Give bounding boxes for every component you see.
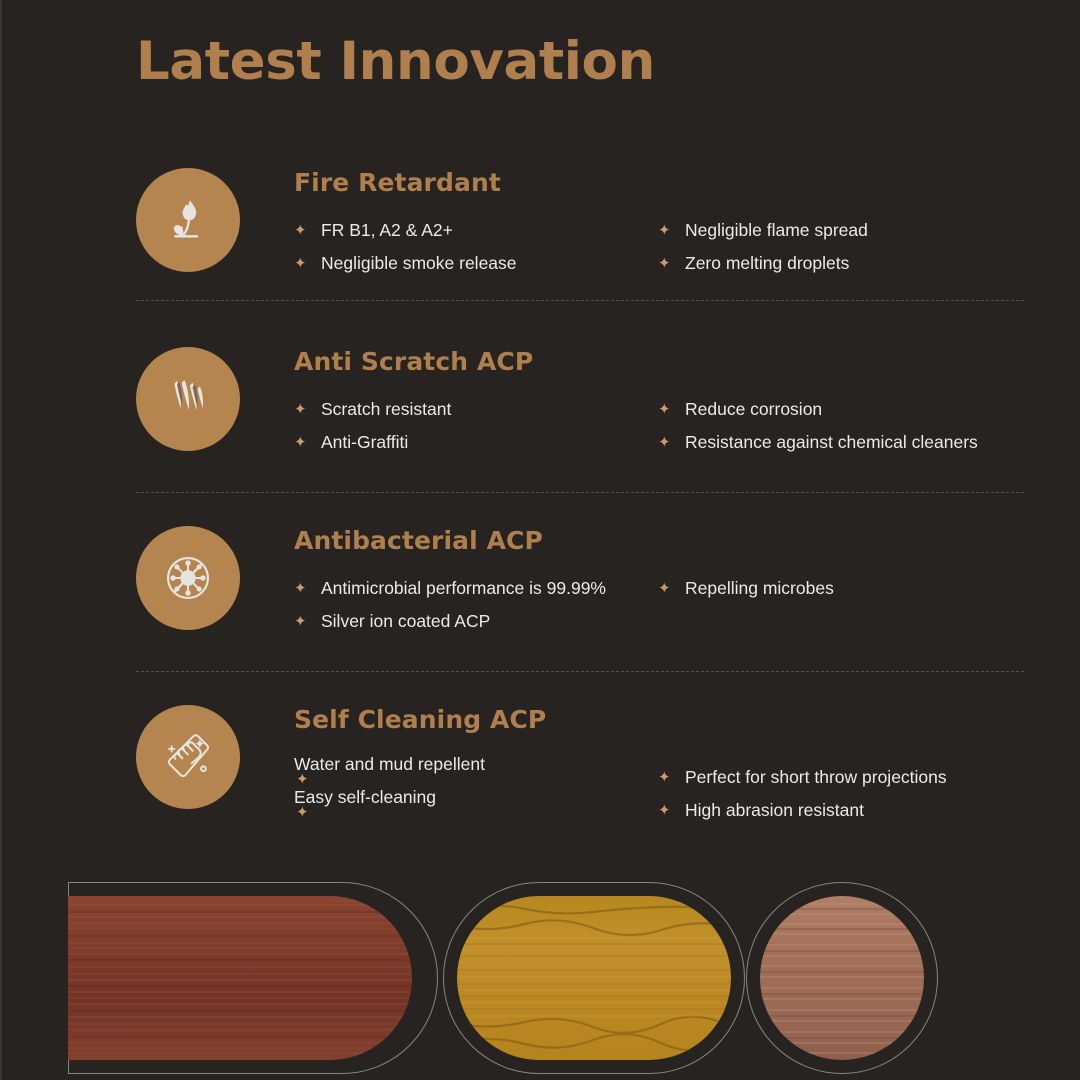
bullet-column-right: ✦Reduce corrosion ✦Resistance against ch… bbox=[658, 393, 1038, 459]
bullet-column-left: ✦Antimicrobial performance is 99.99% ✦Si… bbox=[294, 572, 664, 638]
feature-title: Anti Scratch ACP bbox=[294, 347, 1036, 376]
sparkle-bullet-icon: ✦ bbox=[294, 247, 307, 280]
feature-title: Self Cleaning ACP bbox=[294, 705, 1036, 734]
list-item: ✦Zero melting droplets bbox=[658, 247, 1038, 280]
sparkle-bullet-icon: ✦ bbox=[658, 794, 671, 827]
flame-leaf-icon bbox=[136, 168, 240, 272]
page-title: Latest Innovation bbox=[136, 31, 655, 92]
list-item: ✦Scratch resistant bbox=[294, 393, 654, 426]
list-item: ✦Water and mud repellent bbox=[294, 748, 654, 781]
list-item-label: FR B1, A2 & A2+ bbox=[321, 220, 453, 240]
feature-body: Fire Retardant ✦FR B1, A2 & A2+ ✦Negligi… bbox=[294, 168, 1036, 284]
list-item-label: Resistance against chemical cleaners bbox=[685, 432, 978, 452]
list-item-label: Repelling microbes bbox=[685, 578, 834, 598]
bullet-columns: ✦Water and mud repellent ✦Easy self-clea… bbox=[294, 751, 1036, 827]
list-item-label: Negligible smoke release bbox=[321, 253, 517, 273]
bullet-columns: ✦Antimicrobial performance is 99.99% ✦Si… bbox=[294, 572, 1036, 642]
list-item-label: High abrasion resistant bbox=[685, 800, 864, 820]
list-item: ✦High abrasion resistant bbox=[658, 794, 1038, 827]
sparkle-bullet-icon: ✦ bbox=[658, 572, 671, 605]
list-item: ✦Negligible smoke release bbox=[294, 247, 654, 280]
sparkle-bullet-icon: ✦ bbox=[658, 393, 671, 426]
sparkle-bullet-icon: ✦ bbox=[294, 605, 307, 638]
bullet-column-left: ✦Scratch resistant ✦Anti-Graffiti bbox=[294, 393, 654, 459]
list-item: ✦Reduce corrosion bbox=[658, 393, 1038, 426]
bullet-column-right: ✦Repelling microbes bbox=[658, 572, 1038, 605]
no-germs-icon bbox=[136, 526, 240, 630]
section-divider bbox=[136, 492, 1024, 493]
feature-title: Antibacterial ACP bbox=[294, 526, 1036, 555]
section-divider bbox=[136, 671, 1024, 672]
bullet-columns: ✦FR B1, A2 & A2+ ✦Negligible smoke relea… bbox=[294, 214, 1036, 284]
list-item-label: Reduce corrosion bbox=[685, 399, 822, 419]
list-item-label: Antimicrobial performance is 99.99% bbox=[321, 578, 606, 598]
list-item-label: Zero melting droplets bbox=[685, 253, 849, 273]
bullet-column-left: ✦Water and mud repellent ✦Easy self-clea… bbox=[294, 748, 654, 814]
sparkle-bullet-icon: ✦ bbox=[658, 214, 671, 247]
list-item-label: Scratch resistant bbox=[321, 399, 451, 419]
bullet-column-left: ✦FR B1, A2 & A2+ ✦Negligible smoke relea… bbox=[294, 214, 654, 280]
list-item: ✦Anti-Graffiti bbox=[294, 426, 654, 459]
claw-scratch-icon bbox=[136, 347, 240, 451]
swatch-teak[interactable] bbox=[760, 896, 924, 1060]
sparkle-bullet-icon: ✦ bbox=[294, 426, 307, 459]
bullet-column-right: ✦Negligible flame spread ✦Zero melting d… bbox=[658, 214, 1038, 280]
list-item: ✦Antimicrobial performance is 99.99% bbox=[294, 572, 664, 605]
feature-body: Antibacterial ACP ✦Antimicrobial perform… bbox=[294, 526, 1036, 642]
sparkle-bullet-icon: ✦ bbox=[658, 426, 671, 459]
section-divider bbox=[136, 300, 1024, 301]
wiping-hand-sparkle-icon bbox=[136, 705, 240, 809]
list-item-label: Anti-Graffiti bbox=[321, 432, 408, 452]
list-item: ✦Negligible flame spread bbox=[658, 214, 1038, 247]
list-item: ✦Easy self-cleaning bbox=[294, 781, 654, 814]
sparkle-bullet-icon: ✦ bbox=[294, 393, 307, 426]
list-item: ✦Repelling microbes bbox=[658, 572, 1038, 605]
list-item: ✦Silver ion coated ACP bbox=[294, 605, 664, 638]
sparkle-bullet-icon: ✦ bbox=[658, 761, 671, 794]
list-item: ✦Perfect for short throw projections bbox=[658, 761, 1038, 794]
list-item-label: Easy self-cleaning bbox=[294, 787, 436, 807]
feature-title: Fire Retardant bbox=[294, 168, 1036, 197]
swatch-golden-oak[interactable] bbox=[457, 896, 731, 1060]
sparkle-bullet-icon: ✦ bbox=[294, 214, 307, 247]
bullet-column-right: ✦Perfect for short throw projections ✦Hi… bbox=[658, 761, 1038, 827]
list-item-label: Water and mud repellent bbox=[294, 754, 485, 774]
list-item-label: Negligible flame spread bbox=[685, 220, 868, 240]
feature-body: Anti Scratch ACP ✦Scratch resistant ✦Ant… bbox=[294, 347, 1036, 463]
material-swatch-gallery bbox=[0, 876, 1080, 1080]
feature-body: Self Cleaning ACP ✦Water and mud repelle… bbox=[294, 705, 1036, 827]
list-item-label: Silver ion coated ACP bbox=[321, 611, 490, 631]
bullet-columns: ✦Scratch resistant ✦Anti-Graffiti ✦Reduc… bbox=[294, 393, 1036, 463]
sparkle-bullet-icon: ✦ bbox=[296, 796, 309, 829]
list-item-label: Perfect for short throw projections bbox=[685, 767, 947, 787]
list-item: ✦Resistance against chemical cleaners bbox=[658, 426, 1038, 459]
sparkle-bullet-icon: ✦ bbox=[294, 572, 307, 605]
sparkle-bullet-icon: ✦ bbox=[658, 247, 671, 280]
swatch-rosewood[interactable] bbox=[68, 896, 412, 1060]
list-item: ✦FR B1, A2 & A2+ bbox=[294, 214, 654, 247]
